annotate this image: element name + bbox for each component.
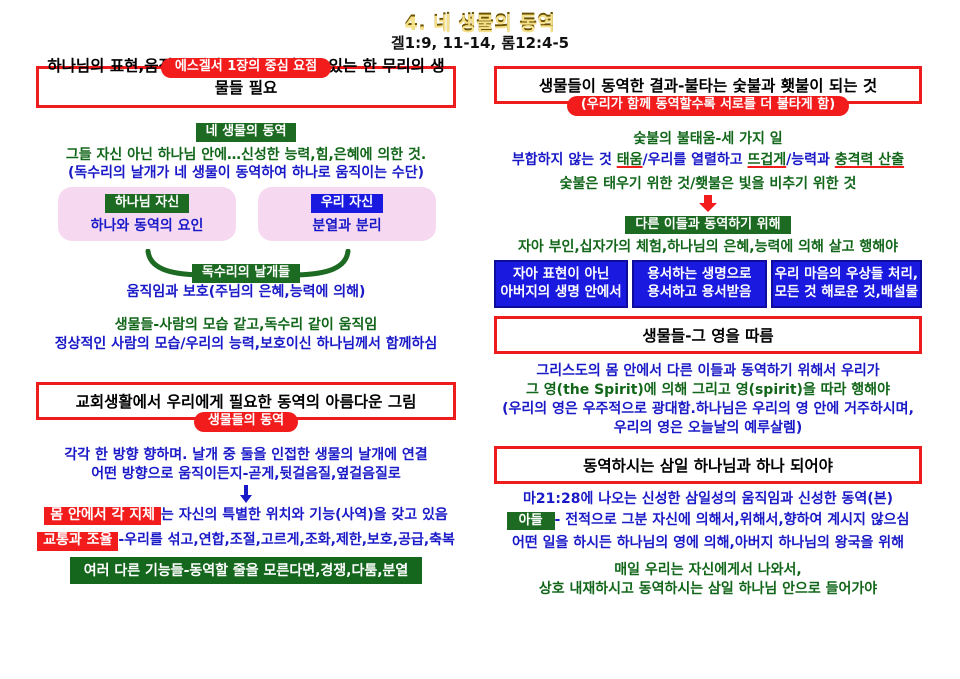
right-box-2-text: 생물들-그 영을 따름: [494, 316, 922, 354]
blue-cell-1: 자아 표현이 아닌 아버지의 생명 안에서: [494, 260, 628, 308]
right-box-3-text: 동역하시는 삼일 하나님과 하나 되어야: [494, 446, 922, 484]
left-section-1-line2: (독수리의 날개가 네 생물이 동역하여 하나로 움직이는 수단): [36, 164, 456, 183]
right-cooperate-label: 다른 이들과 동역하기 위해: [625, 216, 790, 235]
right-box-3-line2-rest: - 전적으로 그분 자신에 의해서,위해서,향하여 계시지 않으심: [555, 512, 910, 528]
blue-cell-2: 용서하는 생명으로 용서하고 용서받음: [632, 260, 766, 308]
left-box-2: 교회생활에서 우리에게 필요한 동역의 아름다운 그림 생물들의 동역: [36, 382, 456, 420]
right-box-2-line1: 그리스도의 몸 안에서 다른 이들과 동역하기 위해서 우리가: [494, 362, 922, 381]
eagle-wings-connector: 독수리의 날개들: [36, 249, 456, 283]
blue-cell-1-line2: 아버지의 생명 안에서: [498, 284, 624, 302]
bubble-god-label: 하나님 자신: [105, 194, 189, 213]
right-box-2-line3: (우리의 영은 우주적으로 광대함.하나님은 우리의 영 안에 거주하시며,: [494, 400, 922, 419]
left-box-2-line1: 각각 한 방향 향하며. 날개 중 둘을 인접한 생물의 날개에 연결: [36, 446, 456, 465]
left-box-2-pill: 생물들의 동역: [194, 412, 298, 432]
left-green-banner: 여러 다른 기능들-동역할 줄을 모른다면,경쟁,다툼,분열: [70, 557, 423, 584]
mixed-part-2: /우리를 열렬하고: [642, 152, 747, 168]
left-row-2: 교통과 조율-우리를 섞고,연합,조절,고르게,조화,제한,보호,공급,축복: [36, 529, 456, 551]
right-box-3-line1: 마21:28에 나오는 신성한 삼일성의 움직임과 신성한 동역(본): [494, 490, 922, 509]
eagle-wings-label: 독수리의 날개들: [192, 264, 300, 283]
left-banner-wrap: 여러 다른 기능들-동역할 줄을 모른다면,경쟁,다툼,분열: [36, 557, 456, 584]
right-green-line-1: 숯불의 불태움-세 가지 일: [494, 130, 922, 149]
right-label-wrap: 다른 이들과 동역하기 위해: [494, 213, 922, 235]
blue-cell-3-line1: 우리 마음의 우상들 처리,: [775, 266, 918, 284]
bubble-row: 하나님 자신 하나와 동역의 요인 우리 자신 분열과 분리: [36, 187, 456, 249]
right-box-3-line5: 상호 내재하시고 동역하시는 삼일 하나님 안으로 들어가야: [494, 580, 922, 599]
son-tag: 아들: [507, 512, 555, 531]
mixed-highlight-1: 태움: [617, 152, 643, 168]
slide-page: 4. 네 생물의 동역 겔1:9, 11-14, 롬12:4-5 에스겔서 1장…: [0, 0, 960, 679]
blue-cell-2-line1: 용서하는 생명으로: [636, 266, 762, 284]
mixed-part-3: /능력과: [786, 152, 835, 168]
down-arrow-icon: [238, 485, 254, 503]
right-box-1: 생물들이 동역한 결과-불타는 숯불과 횃불이 되는 것 (우리가 함께 동역할…: [494, 66, 922, 104]
left-tail-line2: 정상적인 사람의 모습/우리의 능력,보호이신 하나님께서 함께하심: [36, 335, 456, 354]
eagle-wings-sub: 움직임과 보호(주님의 은혜,능력에 의해): [36, 283, 456, 302]
left-row-1-rest: 는 자신의 특별한 위치와 기능(사역)을 갖고 있음: [161, 507, 448, 523]
down-arrow-red-icon: [698, 195, 718, 212]
right-box-3-line2: 아들- 전적으로 그분 자신에 의해서,위해서,향하여 계시지 않으심: [494, 509, 922, 531]
scripture-reference: 겔1:9, 11-14, 롬12:4-5: [0, 32, 960, 53]
mixed-part-1: 부합하지 않는 것: [512, 152, 617, 168]
left-row-1: 몸 안에서 각 지체는 자신의 특별한 위치와 기능(사역)을 갖고 있음: [36, 504, 456, 526]
bubble-us-sub: 분열과 분리: [268, 215, 426, 235]
right-column: 생물들이 동역한 결과-불타는 숯불과 횃불이 되는 것 (우리가 함께 동역할…: [494, 66, 922, 599]
left-tail-line1: 생물들-사람의 모습 같고,독수리 같이 움직임: [36, 316, 456, 335]
page-title: 4. 네 생물의 동역: [0, 8, 960, 35]
right-box-3-line3: 어떤 일을 하시든 하나님의 영에 의해,아버지 하나님의 왕국을 위해: [494, 534, 922, 553]
arc-label-wrap: 독수리의 날개들: [36, 261, 456, 283]
blue-cell-3-line2: 모든 것 해로운 것,배설물: [775, 284, 918, 302]
down-arrow-wrap-2: [494, 195, 922, 212]
right-green-line-2: 숯불은 태우기 위한 것/횃불은 빛을 비추기 위한 것: [494, 175, 922, 194]
right-after-label: 자아 부인,십자가의 체험,하나님의 은혜,능력에 의해 살고 행해야: [494, 238, 922, 257]
bubble-ourselves: 우리 자신 분열과 분리: [258, 187, 436, 241]
right-box-2-line4: 우리의 영은 오늘날의 예루살렘): [494, 419, 922, 438]
left-section-1-line1: 그들 자신 아닌 하나님 안에…신성한 능력,힘,은혜에 의한 것.: [36, 146, 456, 165]
left-row-1-tag: 몸 안에서 각 지체: [44, 507, 161, 526]
blue-cell-1-line1: 자아 표현이 아닌: [498, 266, 624, 284]
right-box-2-line2: 그 영(the Spirit)에 의해 그리고 영(spirit)을 따라 행해…: [494, 381, 922, 400]
triple-blue-boxes: 자아 표현이 아닌 아버지의 생명 안에서 용서하는 생명으로 용서하고 용서받…: [494, 260, 922, 308]
right-mixed-line: 부합하지 않는 것 태움/우리를 열렬하고 뜨겁게/능력과 충격력 산출: [494, 149, 922, 169]
left-box-1-pill: 에스겔서 1장의 중심 요점: [161, 58, 331, 78]
left-row-2-tag: 교통과 조율: [37, 532, 118, 551]
right-box-1-pill: (우리가 함께 동역할수록 서로를 더 불타게 함): [567, 96, 849, 116]
bubble-god-himself: 하나님 자신 하나와 동역의 요인: [58, 187, 236, 241]
left-row-2-rest: -우리를 섞고,연합,조절,고르게,조화,제한,보호,공급,축복: [118, 532, 455, 548]
blue-cell-2-line2: 용서하고 용서받음: [636, 284, 762, 302]
mixed-highlight-2: 뜨겁게: [748, 152, 787, 168]
right-box-3-line4: 매일 우리는 자신에게서 나와서,: [494, 561, 922, 580]
left-box-1: 에스겔서 1장의 중심 요점 하나님의 표현,움직임,행정 위해 동역할 수 있…: [36, 66, 456, 108]
mixed-highlight-3: 충격력 산출: [835, 152, 904, 168]
down-arrow-wrap-1: [36, 485, 456, 503]
bubble-god-sub: 하나와 동역의 요인: [68, 215, 226, 235]
left-box-2-line2: 어떤 방향으로 움직이든지-곧게,뒷걸음질,옆걸음질로: [36, 465, 456, 484]
left-section-1-label-wrap: 네 생물의 동역: [36, 120, 456, 142]
bubble-us-label: 우리 자신: [311, 194, 383, 213]
left-section-1-label: 네 생물의 동역: [196, 123, 297, 142]
left-column: 에스겔서 1장의 중심 요점 하나님의 표현,움직임,행정 위해 동역할 수 있…: [36, 66, 456, 584]
blue-cell-3: 우리 마음의 우상들 처리, 모든 것 해로운 것,배설물: [771, 260, 922, 308]
